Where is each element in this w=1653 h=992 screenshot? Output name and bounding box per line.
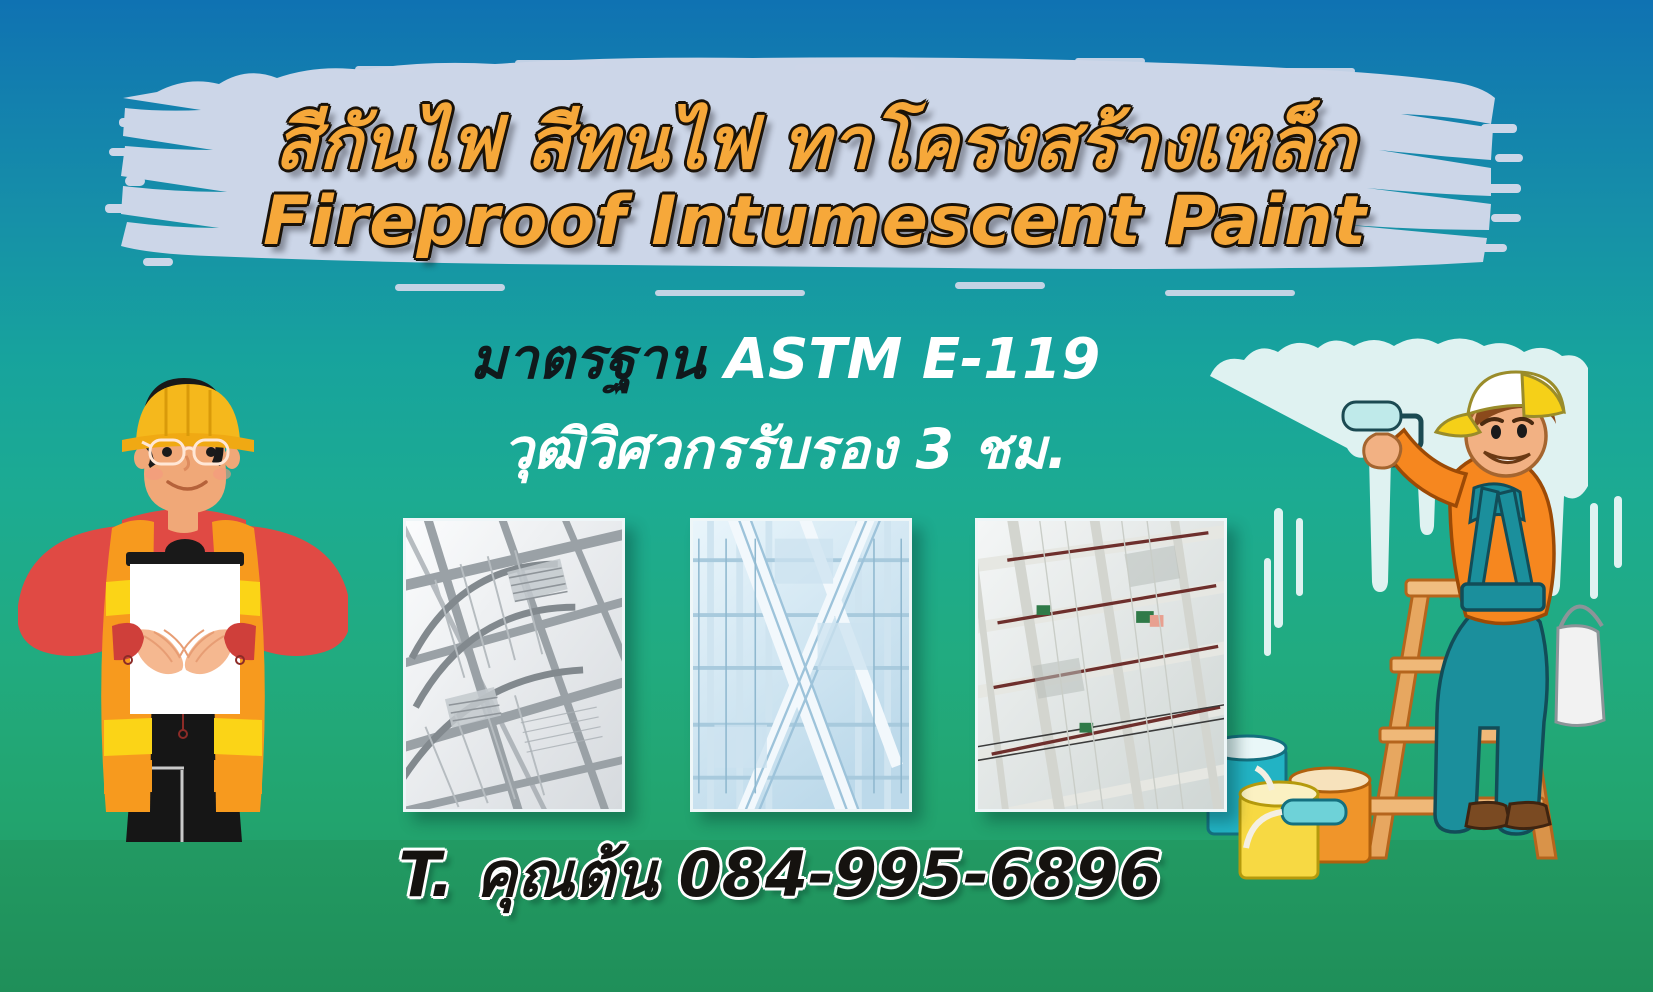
- photo-blue-steel-frame: [690, 518, 912, 812]
- banner-canvas: สีกันไฟ สีทนไฟ ทาโครงสร้างเหล็ก Fireproo…: [0, 0, 1653, 992]
- standard-thai-prefix: มาตรฐาน: [470, 327, 725, 392]
- certification-line: วุฒิวิศวกรรับรอง 3 ชม.: [360, 416, 1210, 482]
- contact-phone-line: T. คุณต้น 084-995-6896: [300, 826, 1260, 924]
- photo-steel-roof-truss: [403, 518, 625, 812]
- standard-code: ASTM E-119: [725, 327, 1100, 392]
- brush-stroke-banner: [95, 52, 1535, 300]
- painter-illustration: [1178, 328, 1653, 888]
- standard-line: มาตรฐาน ASTM E-119: [360, 326, 1210, 394]
- subhead-block: มาตรฐาน ASTM E-119 วุฒิวิศวกรรับรอง 3 ชม…: [360, 326, 1210, 482]
- engineer-illustration: [18, 330, 348, 842]
- photo-white-steel-building: [975, 518, 1227, 812]
